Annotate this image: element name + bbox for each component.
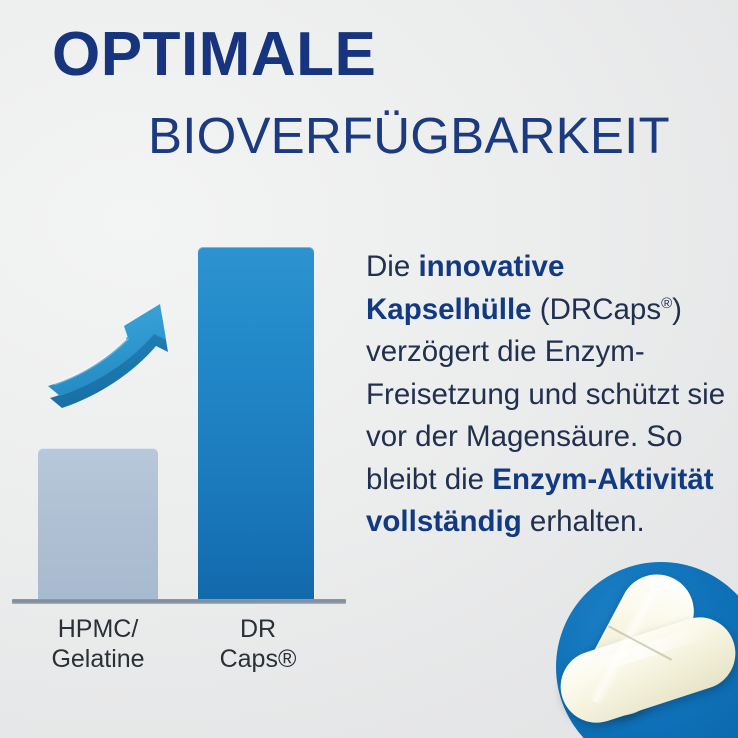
x-axis-label-hpmc-gelatine: HPMC/ Gelatine [16,614,180,674]
bar-hpmc-gelatine [38,448,158,599]
x-axis-label-hpmc-gelatine-line2: Gelatine [16,644,180,674]
bar-chart: HPMC/ Gelatine DR Caps® [0,0,360,738]
capsule-product-photo [548,556,738,738]
copy-part-1: Die [366,250,418,283]
registered-trademark-icon: ® [661,295,672,312]
upward-trend-arrow-icon [42,288,202,408]
promo-graphic: OPTIMALE BIOVERFÜGBARKEIT [0,0,738,738]
bar-dr-caps [198,247,314,599]
copy-part-5: erhalten. [522,505,645,538]
chart-baseline-axis [12,599,346,604]
x-axis-label-dr-caps: DR Caps® [188,614,328,674]
body-copy: Die innovative Kapselhülle (DRCaps®) ver… [366,246,728,544]
copy-part-3a: (DRCaps [532,293,662,326]
x-axis-label-dr-caps-line2: Caps® [188,644,328,674]
x-axis-label-hpmc-gelatine-line1: HPMC/ [16,614,180,644]
x-axis-label-dr-caps-line1: DR [188,614,328,644]
